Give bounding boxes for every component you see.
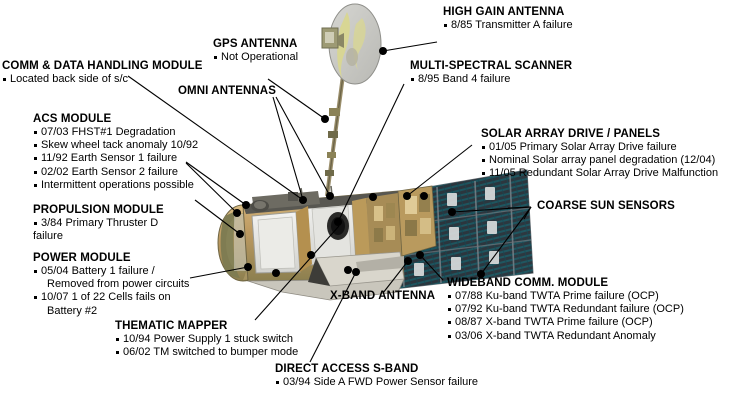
- annotation-item: Skew wheel tack anomaly 10/92: [33, 139, 198, 152]
- annotation-items: 05/04 Battery 1 failure / Removed from p…: [33, 265, 189, 318]
- annotation-items: Not Operational: [213, 51, 298, 64]
- annotation-items: 07/88 Ku-band TWTA Prime failure (OCP) 0…: [447, 290, 684, 343]
- annotation-multi-spectral-scanner[interactable]: MULTI-SPECTRAL SCANNER 8/95 Band 4 failu…: [410, 60, 572, 86]
- annotation-item: 10/94 Power Supply 1 stuck switch: [115, 333, 298, 346]
- annotation-title: MULTI-SPECTRAL SCANNER: [410, 60, 572, 73]
- annotation-comm-data-handling-module[interactable]: COMM & DATA HANDLING MODULE Located back…: [2, 60, 203, 86]
- annotation-title: COARSE SUN SENSORS: [537, 200, 675, 213]
- annotation-item: 07/92 Ku-band TWTA Redundant failure (OC…: [447, 303, 684, 316]
- annotation-item: 11/92 Earth Sensor 1 failure: [33, 152, 198, 165]
- annotation-solar-array-drive-panels[interactable]: SOLAR ARRAY DRIVE / PANELS 01/05 Primary…: [481, 128, 718, 181]
- annotation-wideband-comm-module[interactable]: WIDEBAND COMM. MODULE 07/88 Ku-band TWTA…: [447, 277, 684, 343]
- annotation-propulsion-module[interactable]: PROPULSION MODULE 3/84 Primary Thruster …: [33, 204, 164, 243]
- annotation-title: OMNI ANTENNAS: [178, 85, 276, 98]
- annotation-item: 06/02 TM switched to bumper mode: [115, 346, 298, 359]
- diagram-canvas: COMM & DATA HANDLING MODULE Located back…: [0, 0, 735, 407]
- annotation-item: 03/94 Side A FWD Power Sensor failure: [275, 376, 478, 389]
- annotation-item-cont: failure: [33, 230, 164, 243]
- annotation-direct-access-s-band[interactable]: DIRECT ACCESS S-BAND 03/94 Side A FWD Po…: [275, 363, 478, 389]
- annotation-item: Nominal Solar array panel degradation (1…: [481, 154, 718, 167]
- annotation-title: SOLAR ARRAY DRIVE / PANELS: [481, 128, 718, 141]
- annotation-item: Located back side of s/c: [2, 73, 203, 86]
- annotation-item: 02/02 Earth Sensor 2 failure: [33, 166, 198, 179]
- annotation-title: POWER MODULE: [33, 252, 189, 265]
- annotation-coarse-sun-sensors[interactable]: COARSE SUN SENSORS: [537, 200, 675, 213]
- annotation-title: GPS ANTENNA: [213, 38, 298, 51]
- annotation-item: Not Operational: [213, 51, 298, 64]
- annotation-items: 07/03 FHST#1 Degradation Skew wheel tack…: [33, 126, 198, 192]
- annotation-thematic-mapper[interactable]: THEMATIC MAPPER 10/94 Power Supply 1 stu…: [115, 320, 298, 359]
- annotation-items: 01/05 Primary Solar Array Drive failure …: [481, 141, 718, 181]
- annotation-power-module[interactable]: POWER MODULE 05/04 Battery 1 failure / R…: [33, 252, 189, 318]
- annotation-title: COMM & DATA HANDLING MODULE: [2, 60, 203, 73]
- annotation-title: X-BAND ANTENNA: [330, 290, 435, 303]
- annotation-items: 10/94 Power Supply 1 stuck switch 06/02 …: [115, 333, 298, 359]
- annotation-title: DIRECT ACCESS S-BAND: [275, 363, 478, 376]
- annotation-item: 07/03 FHST#1 Degradation: [33, 126, 198, 139]
- annotation-title: WIDEBAND COMM. MODULE: [447, 277, 684, 290]
- annotation-items: 8/85 Transmitter A failure: [443, 19, 573, 32]
- annotation-item: 8/85 Transmitter A failure: [443, 19, 573, 32]
- hga-mast: [325, 68, 344, 196]
- annotation-item: 08/87 X-band TWTA Prime failure (OCP): [447, 316, 684, 329]
- annotation-item: 3/84 Primary Thruster D: [33, 217, 164, 230]
- annotation-items: 03/94 Side A FWD Power Sensor failure: [275, 376, 478, 389]
- annotation-item: 07/88 Ku-band TWTA Prime failure (OCP): [447, 290, 684, 303]
- annotation-high-gain-antenna[interactable]: HIGH GAIN ANTENNA 8/85 Transmitter A fai…: [443, 6, 573, 32]
- annotation-x-band-antenna[interactable]: X-BAND ANTENNA: [330, 290, 435, 303]
- annotation-omni-antennas[interactable]: OMNI ANTENNAS: [178, 85, 276, 98]
- annotation-gps-antenna[interactable]: GPS ANTENNA Not Operational: [213, 38, 298, 64]
- annotation-item: 10/07 1 of 22 Cells fails on: [33, 291, 189, 304]
- annotation-title: ACS MODULE: [33, 113, 198, 126]
- high-gain-antenna-dish: [322, 4, 381, 84]
- annotation-items: Located back side of s/c: [2, 73, 203, 86]
- annotation-item: 05/04 Battery 1 failure /: [33, 265, 189, 278]
- annotation-items: 3/84 Primary Thruster D failure: [33, 217, 164, 243]
- annotation-items: 8/95 Band 4 failure: [410, 73, 572, 86]
- annotation-item-cont: Battery #2: [33, 305, 189, 318]
- annotation-item: 8/95 Band 4 failure: [410, 73, 572, 86]
- annotation-title: HIGH GAIN ANTENNA: [443, 6, 573, 19]
- annotation-item-cont: Removed from power circuits: [33, 278, 189, 291]
- annotation-item: 01/05 Primary Solar Array Drive failure: [481, 141, 718, 154]
- annotation-item: Intermittent operations possible: [33, 179, 198, 192]
- annotation-title: THEMATIC MAPPER: [115, 320, 298, 333]
- annotation-title: PROPULSION MODULE: [33, 204, 164, 217]
- annotation-item: 03/06 X-band TWTA Redundant Anomaly: [447, 330, 684, 343]
- annotation-acs-module[interactable]: ACS MODULE 07/03 FHST#1 Degradation Skew…: [33, 113, 198, 192]
- annotation-item: 11/05 Redundant Solar Array Drive Malfun…: [481, 167, 718, 180]
